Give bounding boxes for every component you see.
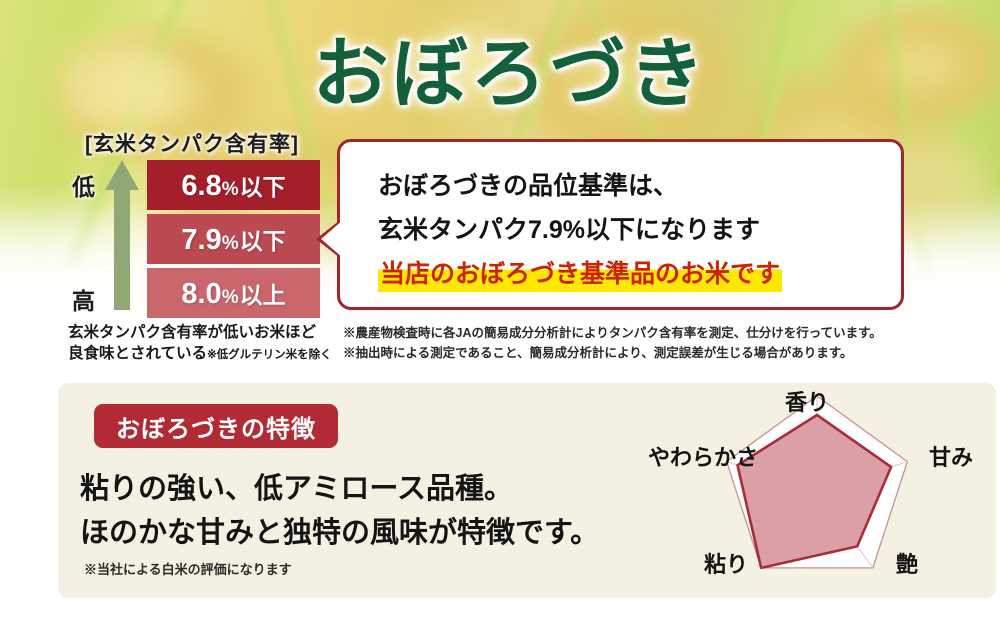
arrow-up-icon xyxy=(105,160,139,310)
protein-bar-suffix: 以上 xyxy=(240,282,286,308)
caption-line-1: 玄米タンパク含有率が低いお米ほど xyxy=(68,324,316,341)
radar-chart: 香り 甘み 艶 粘り やわらかさ xyxy=(638,383,996,598)
protein-bar-number: 7.9 xyxy=(181,224,221,256)
disclaimer-note-1: ※農産物検査時に各JAの簡易成分分析計によりタンパク含有率を測定、仕分けを行って… xyxy=(343,323,993,343)
protein-chart-heading: [玄米タンパク含有率] xyxy=(85,128,299,158)
features-badge: おぼろづきの特徴 xyxy=(94,404,338,448)
protein-bar-row: 7.9%以下 xyxy=(147,214,320,264)
arrow-shaft xyxy=(114,188,130,310)
protein-bar-row: 8.0%以上 xyxy=(147,268,320,318)
arrow-head xyxy=(105,160,139,190)
page-title: おぼろづき xyxy=(300,28,720,120)
protein-bar-value: 7.9%以下 xyxy=(181,222,285,257)
radar-label-2: 艶 xyxy=(896,547,918,579)
caption-line-2: 良食味とされている xyxy=(68,345,207,362)
infographic-page: おぼろづき [玄米タンパク含有率] 低 高 6.8%以下 7.9%以下 8.0 xyxy=(0,0,1000,621)
protein-bar-suffix: 以下 xyxy=(240,228,286,254)
axis-label-low: 低 xyxy=(72,168,95,202)
protein-bar-list: 6.8%以下 7.9%以下 8.0%以上 xyxy=(147,160,320,322)
callout-bubble: おぼろづきの品位基準は、 玄米タンパク7.9%以下になります 当店のおぼろづき基… xyxy=(337,139,904,310)
bokeh-highlight xyxy=(60,40,180,130)
callout-text: おぼろづきの品位基準は、 玄米タンパク7.9%以下になります 当店のおぼろづき基… xyxy=(378,164,888,292)
protein-bar-row: 6.8%以下 xyxy=(147,160,320,210)
radar-label-1: 甘み xyxy=(929,440,973,472)
callout-tail-inner xyxy=(321,220,343,258)
feature-line-2: ほのかな甘みと独特の風味が特徴です。 xyxy=(80,509,599,551)
protein-bar-value: 8.0%以上 xyxy=(181,276,285,311)
caption-small-note: ※低グルテリン米を除く xyxy=(207,349,332,361)
protein-bar-number: 6.8 xyxy=(181,170,221,202)
protein-chart-caption: 玄米タンパク含有率が低いお米ほど 良食味とされている※低グルテリン米を除く xyxy=(68,322,348,366)
radar-label-4: やわらかさ xyxy=(648,440,758,472)
callout-line-3-highlighted: 当店のおぼろづき基準品のお米です xyxy=(378,256,782,292)
rice-grain-cluster xyxy=(820,0,1000,130)
protein-bar-unit: % xyxy=(222,287,239,308)
axis-label-high: 高 xyxy=(72,282,95,316)
feature-line-1: 粘りの強い、低アミロース品種。 xyxy=(80,465,513,507)
radar-label-3: 粘り xyxy=(704,547,748,579)
disclaimer-notes: ※農産物検査時に各JAの簡易成分分析計によりタンパク含有率を測定、仕分けを行って… xyxy=(343,323,993,363)
protein-bar-unit: % xyxy=(222,179,239,200)
disclaimer-note-2: ※抽出時による測定であること、簡易成分析計により、測定誤差が生じる場合があります… xyxy=(343,343,993,363)
feature-note: ※当社による白米の評価になります xyxy=(84,559,292,578)
callout-line-1: おぼろづきの品位基準は、 xyxy=(378,164,888,208)
protein-bar-suffix: 以下 xyxy=(240,174,286,200)
features-panel: おぼろづきの特徴 粘りの強い、低アミロース品種。 ほのかな甘みと独特の風味が特徴… xyxy=(58,383,996,598)
protein-bar-unit: % xyxy=(222,233,239,254)
features-badge-label: おぼろづきの特徴 xyxy=(116,409,316,444)
protein-bar-number: 8.0 xyxy=(181,278,221,310)
callout-line-2: 玄米タンパク7.9%以下になります xyxy=(378,208,888,252)
protein-bar-value: 6.8%以下 xyxy=(181,168,285,203)
radar-label-0: 香り xyxy=(785,385,829,417)
